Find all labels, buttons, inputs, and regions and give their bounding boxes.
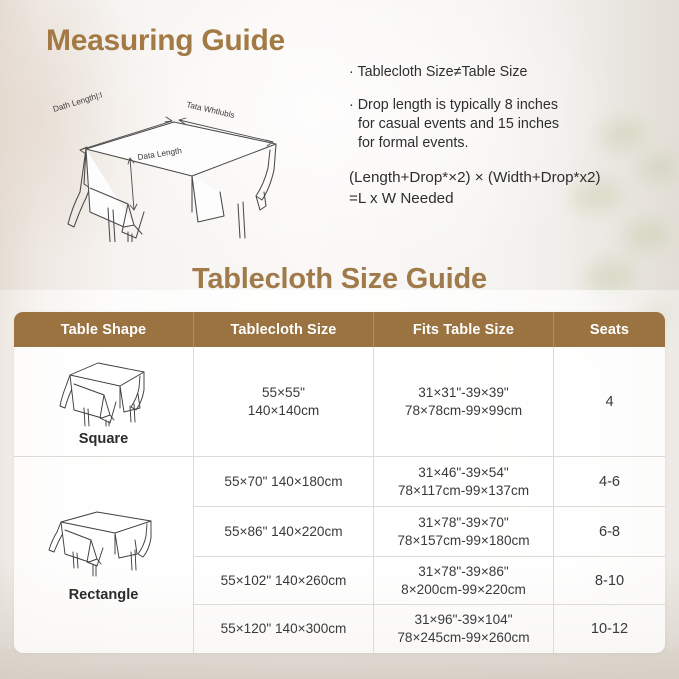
rectangle-table-icon <box>43 506 165 584</box>
shape-label: Rectangle <box>69 586 139 604</box>
column-header-tablecloth-size: Tablecloth Size <box>194 312 374 347</box>
illustration-label-left: Dath Length|:l <box>52 92 103 114</box>
measuring-notes: · Tablecloth Size≠Table Size · Drop leng… <box>349 63 649 209</box>
illustration-label-right: Tata Whtlubls <box>186 100 236 120</box>
table-row: 55×86" 140×220cm 31×78"-39×70" 78×157cm-… <box>194 507 665 557</box>
size-guide-title: Tablecloth Size Guide <box>0 263 679 296</box>
table-header-row: Table Shape Tablecloth Size Fits Table S… <box>14 312 665 347</box>
cell-tablecloth-size: 55×120" 140×300cm <box>194 605 374 653</box>
cell-fits-table-size: 31×31"-39×39" 78×78cm-99×99cm <box>374 347 554 456</box>
cell-tablecloth-size: 55×102" 140×260cm <box>194 557 374 604</box>
table-row: 55×102" 140×260cm 31×78"-39×86" 8×200cm-… <box>194 557 665 605</box>
shape-label: Square <box>79 430 128 448</box>
table-row-group-rectangle: Rectangle 55×70" 140×180cm 31×46"-39×54"… <box>14 457 665 653</box>
table-row: 55×120" 140×300cm 31×96"-39×104" 78×245c… <box>194 605 665 653</box>
note-block-1: · Drop length is typically 8 inches for … <box>349 96 649 153</box>
note-line: for casual events and 15 inches <box>349 115 649 134</box>
cell-tablecloth-size: 55×55" 140×140cm <box>194 347 374 456</box>
formula-line: =L x W Needed <box>349 188 649 209</box>
cell-fits-table-size: 31×46"-39×54" 78×117cm-99×137cm <box>374 457 554 506</box>
note-line: · Drop length is typically 8 inches <box>349 96 649 115</box>
cell-seats: 6-8 <box>554 507 665 556</box>
measuring-guide-title: Measuring Guide <box>46 24 285 58</box>
measuring-illustration: Dath Length|:l Tata Whtlubls Data Length <box>24 92 284 242</box>
formula-block: (Length+Drop*×2) × (Width+Drop*x2) =L x … <box>349 167 649 209</box>
table-row: 55×70" 140×180cm 31×46"-39×54" 78×117cm-… <box>194 457 665 507</box>
cell-tablecloth-size: 55×86" 140×220cm <box>194 507 374 556</box>
cell-seats: 4-6 <box>554 457 665 506</box>
cell-fits-table-size: 31×78"-39×86" 8×200cm-99×220cm <box>374 557 554 604</box>
cell-seats: 8-10 <box>554 557 665 604</box>
formula-line: (Length+Drop*×2) × (Width+Drop*x2) <box>349 167 649 188</box>
size-guide-table: Table Shape Tablecloth Size Fits Table S… <box>14 312 665 653</box>
note-line: for formal events. <box>349 134 649 153</box>
table-body: Square 55×55" 140×140cm 31×31"-39×39" 78… <box>14 347 665 653</box>
cell-seats: 10-12 <box>554 605 665 653</box>
cell-seats: 4 <box>554 347 665 456</box>
table-row: Square 55×55" 140×140cm 31×31"-39×39" 78… <box>14 347 665 457</box>
note-line: · Tablecloth Size≠Table Size <box>349 63 649 82</box>
column-header-table-shape: Table Shape <box>14 312 194 347</box>
note-block-0: · Tablecloth Size≠Table Size <box>349 63 649 82</box>
page-root: Measuring Guide <box>0 0 679 679</box>
shape-cell-square: Square <box>14 347 194 456</box>
cell-fits-table-size: 31×78"-39×70" 78×157cm-99×180cm <box>374 507 554 556</box>
rectangle-rows: 55×70" 140×180cm 31×46"-39×54" 78×117cm-… <box>194 457 665 653</box>
shape-cell-rectangle: Rectangle <box>14 457 194 653</box>
column-header-seats: Seats <box>554 312 665 347</box>
cell-tablecloth-size: 55×70" 140×180cm <box>194 457 374 506</box>
column-header-fits-table-size: Fits Table Size <box>374 312 554 347</box>
square-table-icon <box>48 356 160 428</box>
cell-fits-table-size: 31×96"-39×104" 78×245cm-99×260cm <box>374 605 554 653</box>
